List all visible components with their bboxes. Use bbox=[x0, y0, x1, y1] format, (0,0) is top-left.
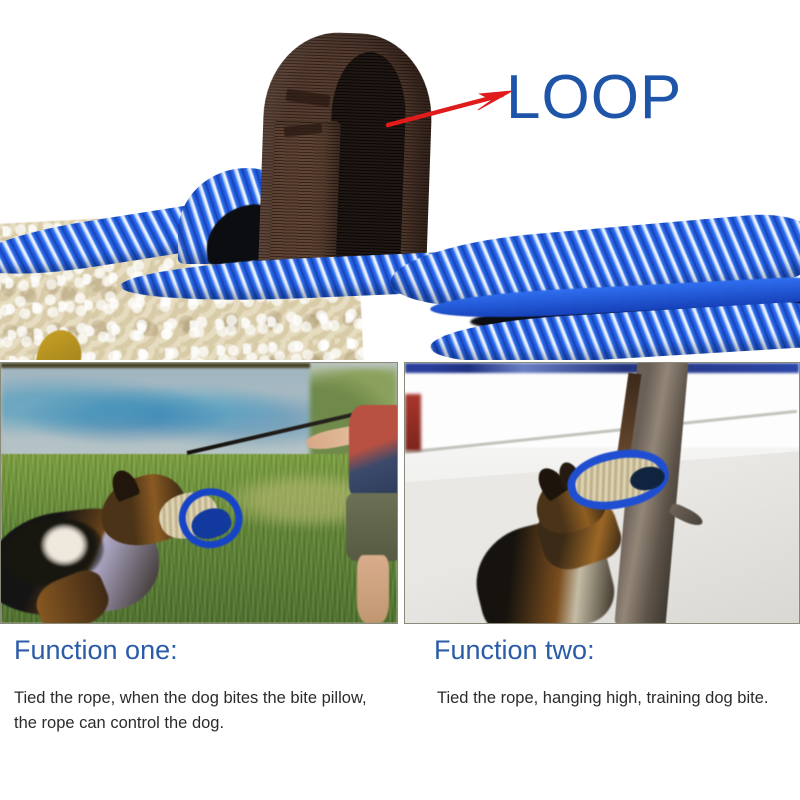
dog-chest-ruff bbox=[41, 524, 89, 566]
function-one-body: Tied the rope, when the dog bites the bi… bbox=[14, 667, 394, 736]
function-two-photo bbox=[404, 362, 800, 624]
handler-torso bbox=[349, 405, 398, 499]
caption-column-two: Function two: Tied the rope, hanging hig… bbox=[434, 624, 794, 711]
caption-column-one: Function one: Tied the rope, when the do… bbox=[14, 624, 394, 736]
function-one-heading: Function one: bbox=[14, 624, 394, 667]
loop-annotation-label: LOOP bbox=[506, 67, 682, 129]
handler-shorts bbox=[346, 493, 398, 561]
blue-banner-strip bbox=[405, 363, 799, 373]
function-two-body: Tied the rope, hanging high, training do… bbox=[434, 667, 794, 711]
graffiti-wall bbox=[1, 363, 310, 459]
hero-product-photo: LOOP bbox=[0, 0, 800, 360]
caption-area: Function one: Tied the rope, when the do… bbox=[0, 624, 800, 800]
function-two-heading: Function two: bbox=[434, 624, 794, 667]
function-one-photo bbox=[0, 362, 398, 624]
wall-top-edge bbox=[1, 363, 310, 368]
product-info-image: LOOP bbox=[0, 0, 800, 800]
demo-photo-row bbox=[0, 362, 800, 624]
handler-leg bbox=[357, 555, 389, 623]
red-background-mark bbox=[405, 394, 421, 451]
